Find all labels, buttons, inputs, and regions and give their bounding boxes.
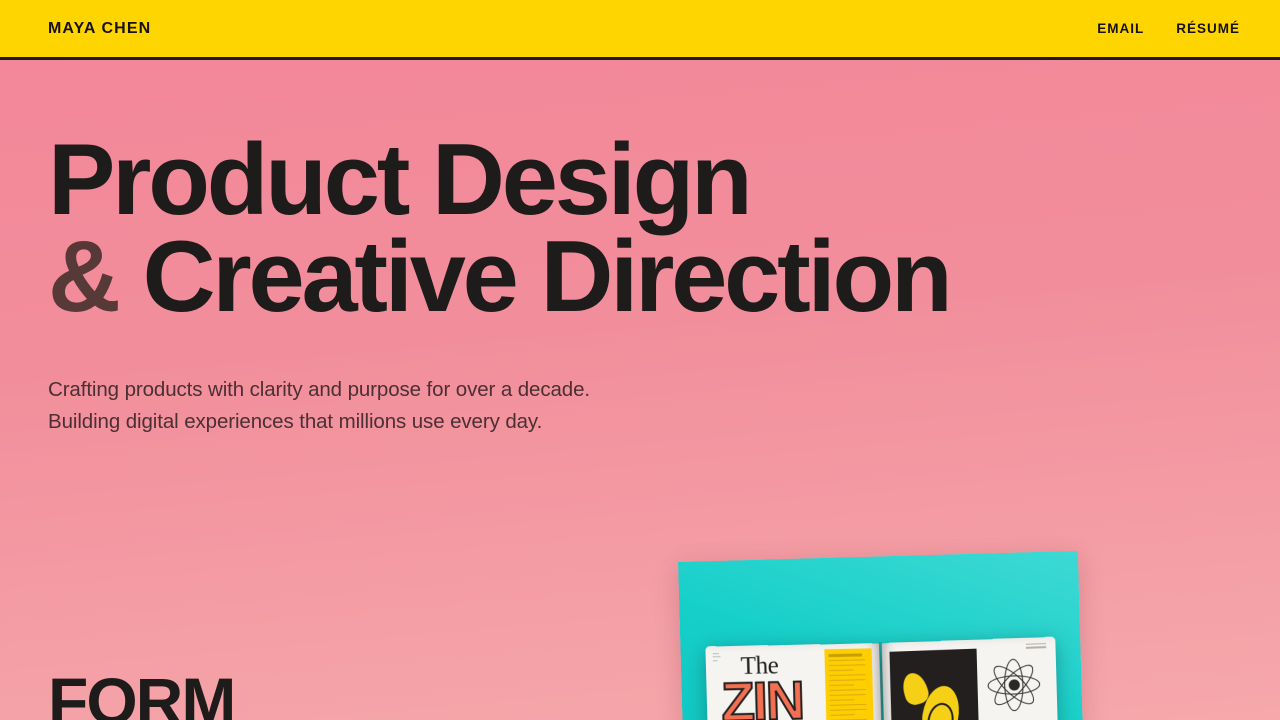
open-magazine: ●●●●●●●●●●●● The ZIN [706, 638, 1058, 720]
magazine-right-page [881, 637, 1059, 720]
atom-nucleus [1008, 679, 1019, 690]
page-background: MAYA CHEN EMAIL RÉSUMÉ Product Design & … [0, 0, 1280, 720]
sidebar-text-line [829, 689, 865, 691]
magazine-photo: ●●●●●●●●●●●● The ZIN [678, 551, 1083, 720]
headline-line-2-text: Creative Direction [143, 221, 950, 333]
magazine-folio [1026, 643, 1047, 651]
sidebar-text-line [830, 694, 866, 696]
sidebar-text-line [830, 709, 866, 711]
nav-link-resume[interactable]: RÉSUMÉ [1176, 21, 1240, 36]
primary-navigation: EMAIL RÉSUMÉ [1097, 21, 1240, 36]
magazine-yellow-sidebar [824, 648, 875, 720]
folio-line [1026, 646, 1046, 648]
headline-line-2: & Creative Direction [48, 229, 1232, 326]
magazine-black-panel [889, 649, 980, 720]
sidebar-text-line [829, 674, 865, 676]
hero-section: Product Design & Creative Direction Craf… [0, 60, 1280, 439]
sidebar-text-line [829, 669, 854, 671]
sidebar-headline-bar [828, 653, 862, 657]
hero-subtitle: Crafting products with clarity and purpo… [48, 374, 1232, 439]
magazine-title: ZIN [721, 674, 804, 720]
sidebar-text-line [829, 684, 854, 686]
page-title: Product Design & Creative Direction [48, 132, 1232, 326]
magazine-masthead-tag: ●●●●●●●●●●●● [713, 652, 740, 663]
atom-diagram-icon [985, 655, 1043, 713]
folio-line [1026, 643, 1046, 645]
nav-link-email[interactable]: EMAIL [1097, 21, 1144, 36]
subtitle-line-2: Building digital experiences that millio… [48, 406, 1232, 438]
sidebar-text-line [829, 664, 865, 666]
sidebar-text-line [829, 679, 865, 681]
magazine-left-page: ●●●●●●●●●●●● The ZIN [705, 643, 883, 720]
sidebar-text-line [830, 714, 855, 716]
headline-ampersand: & [48, 221, 118, 333]
section-heading-form: FORM [48, 668, 234, 720]
subtitle-line-1: Crafting products with clarity and purpo… [48, 374, 1232, 406]
site-header: MAYA CHEN EMAIL RÉSUMÉ [0, 0, 1280, 60]
sidebar-text-line [829, 659, 865, 661]
sidebar-text-line [830, 704, 866, 706]
sidebar-text-line [830, 699, 855, 701]
headline-line-1: Product Design [48, 132, 1232, 229]
brand-logo[interactable]: MAYA CHEN [48, 20, 151, 38]
